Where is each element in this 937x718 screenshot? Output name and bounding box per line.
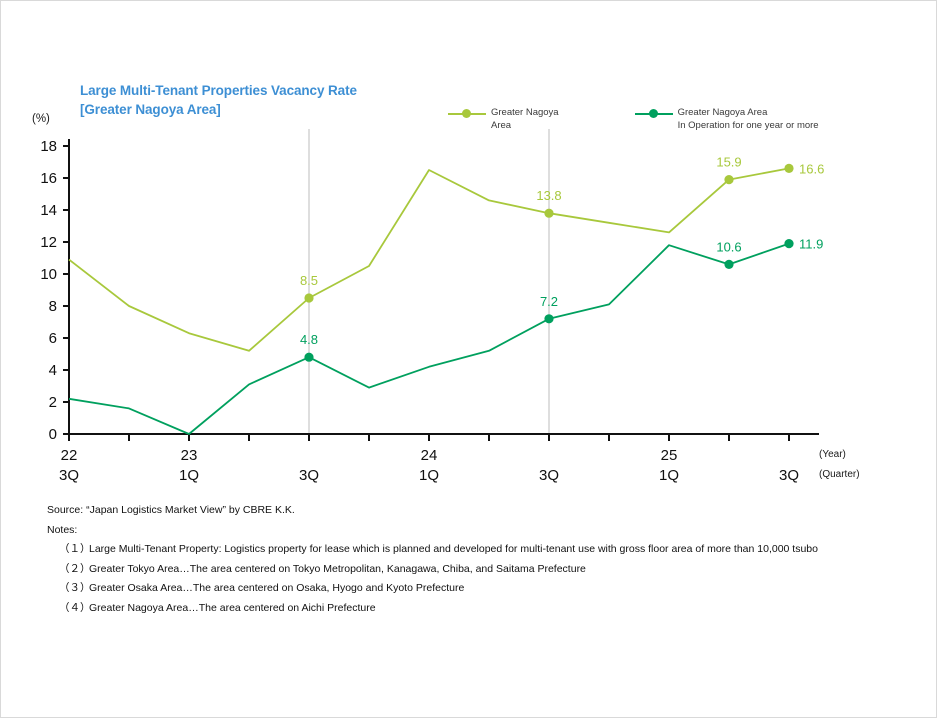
- data-point-marker: [544, 209, 553, 218]
- y-tick-label: 12: [40, 234, 57, 251]
- series-line: [69, 244, 789, 434]
- note-item: （１）Large Multi-Tenant Property: Logistic…: [47, 540, 818, 560]
- x-axis-quarter-label: 3Q: [539, 467, 559, 484]
- data-point-marker: [304, 353, 313, 362]
- y-tick-label: 8: [49, 298, 57, 315]
- data-point-marker: [784, 164, 793, 173]
- x-axis-ticks: [69, 434, 789, 441]
- chart-plot-area: 024681012141618 8.513.815.916.64.87.210.…: [1, 1, 937, 501]
- note-number: （４）: [59, 599, 89, 619]
- note-number: （３）: [59, 579, 89, 599]
- x-axis-quarter-label: 3Q: [299, 467, 319, 484]
- y-tick-label: 2: [49, 394, 57, 411]
- note-item: （２）Greater Tokyo Area…The area centered …: [47, 560, 818, 580]
- note-item: （４）Greater Nagoya Area…The area centered…: [47, 599, 818, 619]
- data-point-marker: [544, 314, 553, 323]
- source-line: Source: “Japan Logistics Market View” by…: [47, 501, 818, 521]
- x-axis-quarter-label: 1Q: [419, 467, 439, 484]
- series-line: [69, 168, 789, 350]
- data-label: 7.2: [540, 294, 558, 309]
- chart-series-lines: [69, 168, 789, 434]
- x-axis-quarter-label: 3Q: [779, 467, 799, 484]
- chart-footnotes: Source: “Japan Logistics Market View” by…: [47, 501, 818, 618]
- x-axis-labels: 222324253Q1Q3Q1Q3Q1Q3Q(Year)(Quarter): [59, 447, 860, 484]
- note-number: （２）: [59, 560, 89, 580]
- x-axis-quarter-label: 1Q: [659, 467, 679, 484]
- y-tick-label: 10: [40, 266, 57, 283]
- chart-page: Large Multi-Tenant Properties Vacancy Ra…: [0, 0, 937, 718]
- y-axis-ticks: 024681012141618: [40, 138, 69, 443]
- y-tick-label: 14: [40, 202, 57, 219]
- notes-heading: Notes:: [47, 521, 818, 541]
- x-axis-quarter-label: 1Q: [179, 467, 199, 484]
- data-point-marker: [784, 239, 793, 248]
- data-label: 10.6: [716, 239, 741, 254]
- data-label: 8.5: [300, 273, 318, 288]
- data-point-marker: [724, 175, 733, 184]
- data-label: 13.8: [536, 188, 561, 203]
- y-tick-label: 6: [49, 330, 57, 347]
- note-text: Large Multi-Tenant Property: Logistics p…: [89, 543, 818, 555]
- note-text: Greater Tokyo Area…The area centered on …: [89, 563, 586, 575]
- note-number: （１）: [59, 540, 89, 560]
- x-axis-quarter-label: 3Q: [59, 467, 79, 484]
- x-axis-year-label: 25: [661, 447, 678, 464]
- x-axis-year-label: 22: [61, 447, 78, 464]
- x-axis-year-label: 23: [181, 447, 198, 464]
- data-point-marker: [724, 260, 733, 269]
- data-label: 4.8: [300, 332, 318, 347]
- chart-gridlines: [309, 129, 549, 434]
- data-label: 15.9: [716, 155, 741, 170]
- note-item: （３）Greater Osaka Area…The area centered …: [47, 579, 818, 599]
- x-axis-year-caption: (Year): [819, 449, 846, 460]
- data-point-marker: [304, 293, 313, 302]
- x-axis-quarter-caption: (Quarter): [819, 469, 860, 480]
- y-tick-label: 0: [49, 426, 57, 443]
- data-label: 16.6: [799, 161, 824, 176]
- y-tick-label: 4: [49, 362, 57, 379]
- note-text: Greater Osaka Area…The area centered on …: [89, 582, 464, 594]
- chart-axes: [69, 139, 819, 434]
- note-text: Greater Nagoya Area…The area centered on…: [89, 602, 376, 614]
- data-label: 11.9: [799, 237, 823, 252]
- x-axis-year-label: 24: [421, 447, 438, 464]
- y-tick-label: 18: [40, 138, 57, 155]
- y-tick-label: 16: [40, 170, 57, 187]
